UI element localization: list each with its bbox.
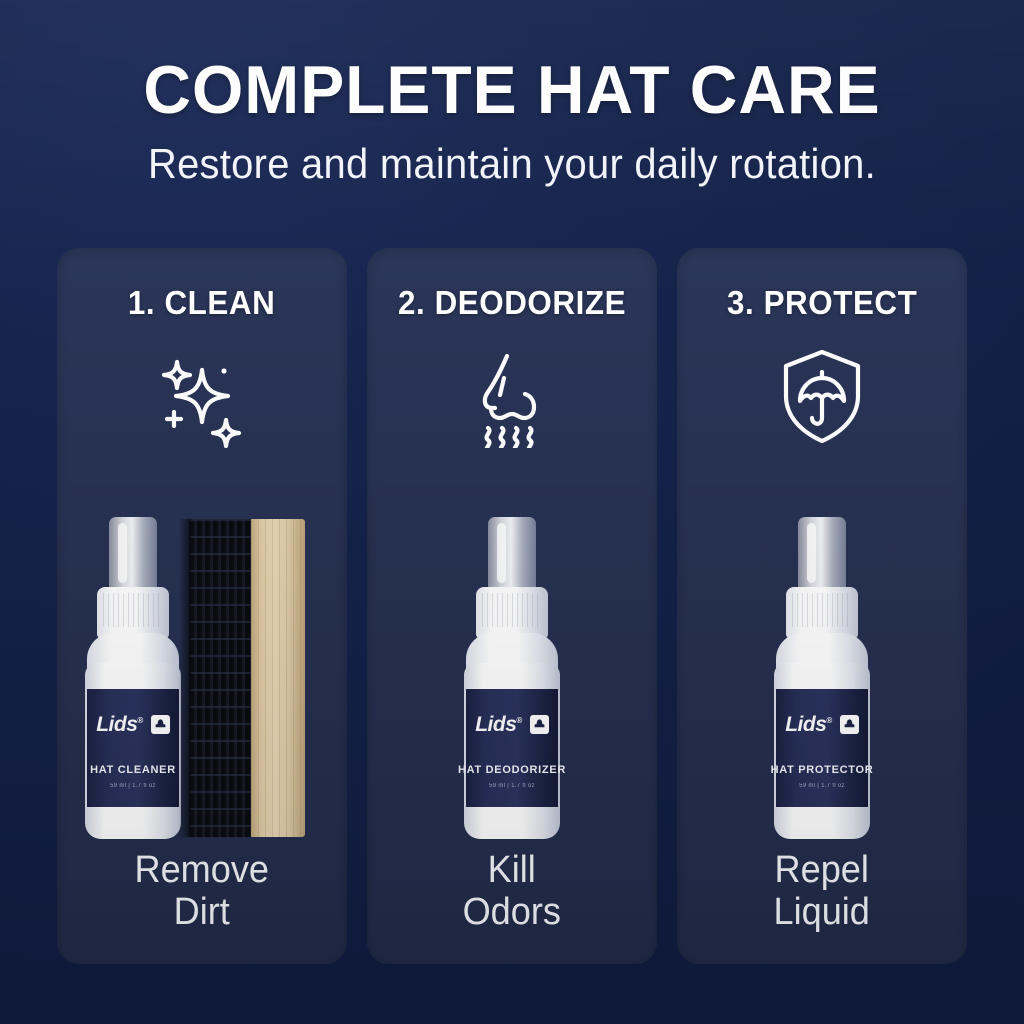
caption-line-2: Dirt (135, 891, 269, 934)
brand-lockup: Lids® (785, 713, 859, 737)
spray-bottle-protector: Lids® HAT PROTECTOR 59 ml | 1.7 fl oz (772, 517, 872, 839)
page-subtitle: Restore and maintain your daily rotation… (26, 142, 999, 186)
card-caption-deodorize: Kill Odors (463, 849, 561, 964)
bottle-collar (97, 587, 169, 639)
bottle-collar (476, 587, 548, 639)
caption-line-1: Repel (774, 849, 870, 892)
brush-wood-handle (251, 519, 305, 837)
spray-bottle-cleaner: Lids® HAT CLEANER 59 ml | 1.7 fl oz (83, 517, 183, 839)
lids-cap-mark-icon (840, 715, 859, 734)
card-heading-protect: 3. PROTECT (727, 284, 917, 322)
brand-wordmark: Lids® (475, 713, 522, 737)
poster-canvas: COMPLETE HAT CARE Restore and maintain y… (0, 0, 1024, 1024)
bottle-nozzle (488, 517, 536, 591)
poster-header: COMPLETE HAT CARE Restore and maintain y… (0, 56, 1024, 186)
bottle-nozzle (798, 517, 846, 591)
product-group-deodorize: Lids® HAT DEODORIZER 59 ml | 1.7 fl oz (367, 450, 657, 849)
bottle-label-cleaner: Lids® HAT CLEANER 59 ml | 1.7 fl oz (87, 689, 179, 807)
step-card-deodorize: 2. DEODORIZE (367, 248, 657, 964)
card-heading-deodorize: 2. DEODORIZE (398, 284, 626, 322)
product-group-protect: Lids® HAT PROTECTOR 59 ml | 1.7 fl oz (677, 450, 967, 849)
bottle-label-deodorizer: Lids® HAT DEODORIZER 59 ml | 1.7 fl oz (466, 689, 558, 807)
hat-brush (189, 519, 305, 837)
caption-line-2: Liquid (774, 891, 870, 934)
product-volume-protector: 59 ml | 1.7 fl oz (799, 783, 845, 789)
product-volume-deodorizer: 59 ml | 1.7 fl oz (489, 783, 535, 789)
bottle-nozzle (109, 517, 157, 591)
product-group-clean: Lids® HAT CLEANER 59 ml | 1.7 fl oz (57, 450, 347, 849)
product-volume-cleaner: 59 ml | 1.7 fl oz (110, 783, 156, 789)
step-card-row: 1. CLEAN (57, 248, 967, 964)
product-name-cleaner: HAT CLEANER (90, 764, 176, 776)
nose-odor-icon (460, 342, 564, 450)
brand-wordmark: Lids® (96, 713, 143, 737)
lids-cap-mark-icon (530, 715, 549, 734)
bottle-collar (786, 587, 858, 639)
card-caption-protect: Repel Liquid (774, 849, 870, 964)
page-title: COMPLETE HAT CARE (15, 56, 1008, 124)
brand-lockup: Lids® (475, 713, 549, 737)
shield-umbrella-icon (770, 342, 874, 450)
bottle-label-protector: Lids® HAT PROTECTOR 59 ml | 1.7 fl oz (776, 689, 868, 807)
caption-line-1: Remove (135, 849, 269, 892)
caption-line-2: Odors (463, 891, 561, 934)
step-card-protect: 3. PROTECT (677, 248, 967, 964)
lids-cap-mark-icon (151, 715, 170, 734)
card-caption-clean: Remove Dirt (135, 849, 269, 964)
brand-lockup: Lids® (96, 713, 170, 737)
spray-bottle-deodorizer: Lids® HAT DEODORIZER 59 ml | 1.7 fl oz (462, 517, 562, 839)
brush-bristles (189, 519, 251, 837)
caption-line-1: Kill (463, 849, 561, 892)
product-name-protector: HAT PROTECTOR (771, 764, 874, 776)
card-heading-clean: 1. CLEAN (128, 284, 275, 322)
step-card-clean: 1. CLEAN (57, 248, 347, 964)
sparkles-icon (150, 342, 254, 450)
brand-wordmark: Lids® (785, 713, 832, 737)
product-name-deodorizer: HAT DEODORIZER (458, 764, 566, 776)
